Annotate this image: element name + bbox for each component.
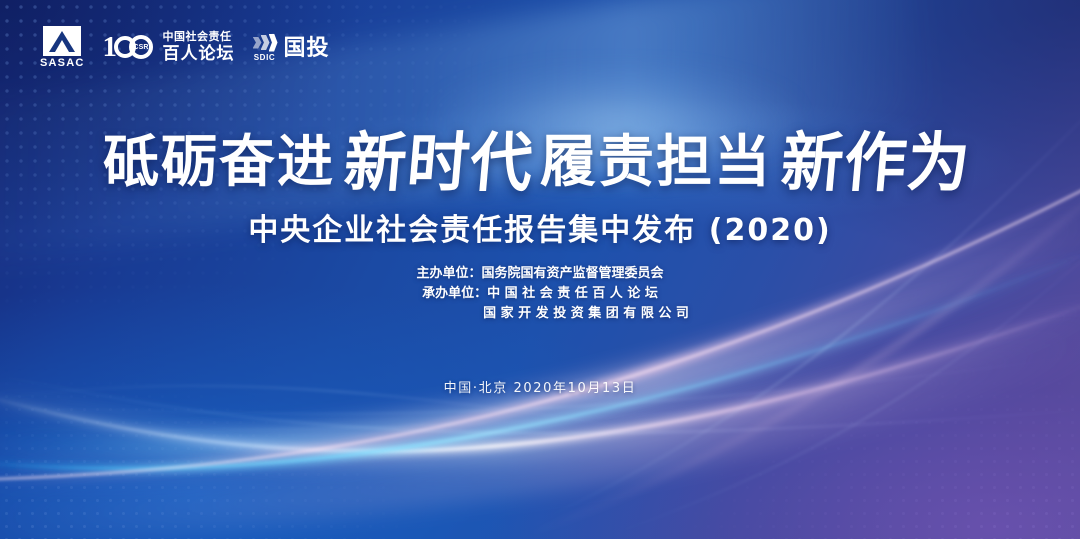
sdic-chevron-shapes <box>253 34 277 52</box>
csr-inner-label: CSR <box>133 44 148 51</box>
logo-sdic: SDIC 国投 <box>253 34 330 62</box>
headline-part-2: 新时代 <box>341 110 538 204</box>
csr-hundred-icon: 1 CSR <box>103 32 155 62</box>
poster-canvas: SASAC 1 CSR 中国社会责任 百人论坛 SDIC <box>0 0 1080 539</box>
csr-text-block: 中国社会责任 百人论坛 <box>163 32 235 62</box>
organizer-line-1: 主办单位：国务院国有资产监督管理委员会 <box>0 264 1080 284</box>
csr-circle-second: CSR <box>129 35 153 59</box>
organizer-line-2: 承办单位：中 国 社 会 责 任 百 人 论 坛 <box>0 284 1080 304</box>
logo-bar: SASAC 1 CSR 中国社会责任 百人论坛 SDIC <box>40 26 330 69</box>
sasac-wordmark: SASAC <box>40 58 85 69</box>
csr-line-2: 百人论坛 <box>163 45 235 63</box>
sdic-chevron-icon: SDIC <box>253 34 277 62</box>
logo-sasac: SASAC <box>40 26 85 69</box>
sdic-chinese-name: 国投 <box>284 37 330 59</box>
logo-csr-100-forum: 1 CSR 中国社会责任 百人论坛 <box>103 32 235 62</box>
headline-part-3: 履责担当 <box>540 117 772 198</box>
organizer-line-3: 国 家 开 发 投 资 集 团 有 限 公 司 <box>0 304 1080 324</box>
sdic-wordmark: SDIC <box>254 54 276 62</box>
subtitle: 中央企业社会责任报告集中发布 (2020) <box>0 205 1080 249</box>
headline-part-1: 砥砺奋进 <box>103 117 335 198</box>
organizer-block: 主办单位：国务院国有资产监督管理委员会 承办单位：中 国 社 会 责 任 百 人… <box>0 264 1080 324</box>
headline: 砥砺奋进新时代履责担当新作为 <box>0 112 1080 202</box>
sasac-triangle-icon <box>43 26 81 56</box>
csr-line-1: 中国社会责任 <box>163 32 235 44</box>
headline-part-4: 新作为 <box>778 110 975 204</box>
dateline: 中国·北京 2020年10月13日 <box>0 377 1080 396</box>
